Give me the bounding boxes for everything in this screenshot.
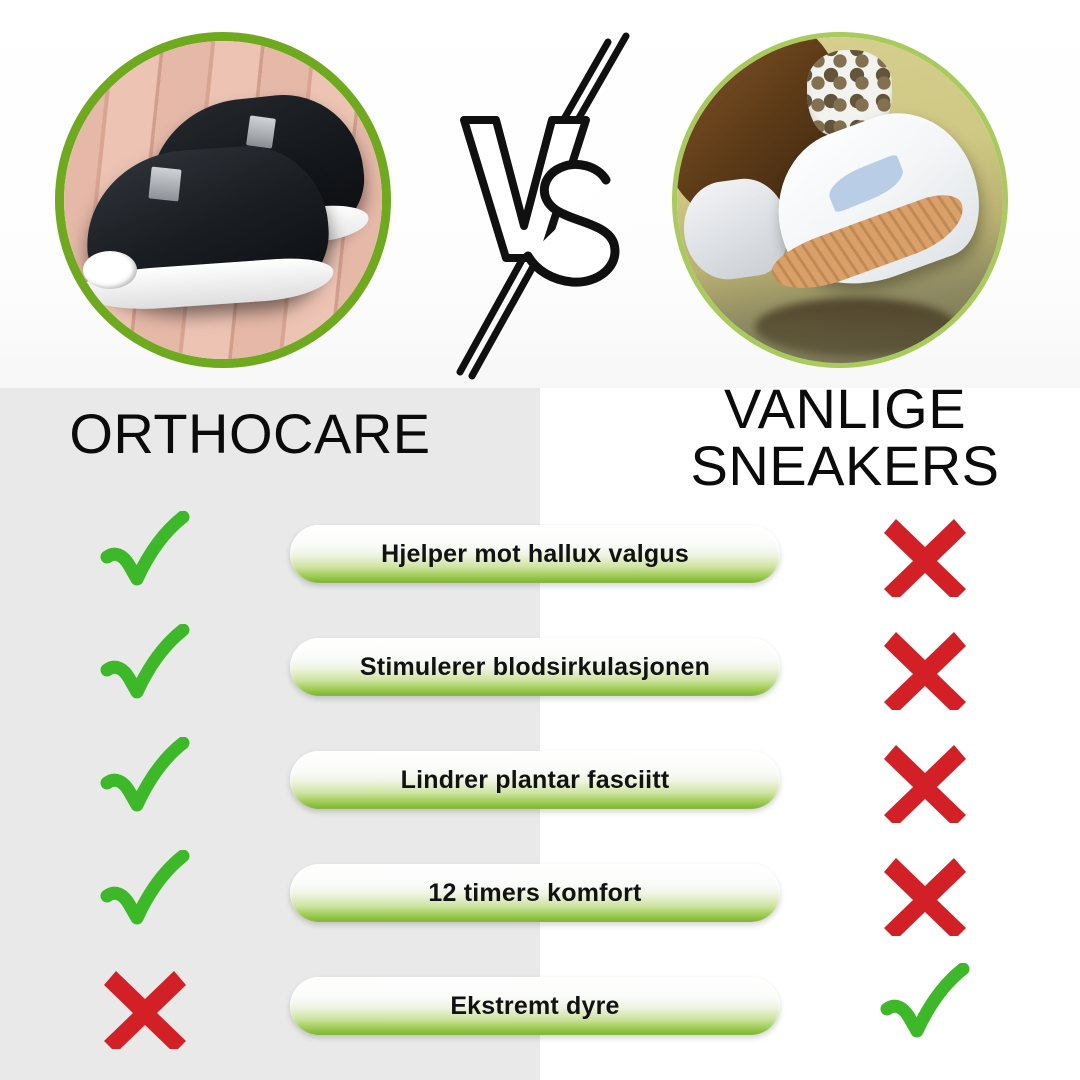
feature-pill[interactable]: 12 timers komfort xyxy=(290,864,780,922)
feature-pill[interactable]: Hjelper mot hallux valgus xyxy=(290,525,780,583)
row-mark-orthocare xyxy=(0,963,290,1049)
feature-pill-label: Lindrer plantar fasciitt xyxy=(401,766,670,795)
row-mark-vanlige-sneakers xyxy=(780,963,1070,1049)
check-icon xyxy=(97,624,193,710)
check-icon xyxy=(877,963,973,1049)
product-image-orthocare xyxy=(55,32,391,368)
comparison-row: 12 timers komfort xyxy=(0,847,1080,939)
shoe-air-unit xyxy=(83,251,137,289)
cross-icon xyxy=(100,963,190,1049)
row-mark-orthocare xyxy=(0,624,290,710)
row-mark-vanlige-sneakers xyxy=(780,511,1070,597)
row-mark-vanlige-sneakers xyxy=(780,737,1070,823)
comparison-row: Ekstremt dyre xyxy=(0,960,1080,1052)
row-mark-orthocare xyxy=(0,850,290,936)
cross-icon xyxy=(880,737,970,823)
comparison-row: Lindrer plantar fasciitt xyxy=(0,734,1080,826)
row-mark-orthocare xyxy=(0,511,290,597)
feature-pill[interactable]: Stimulerer blodsirkulasjonen xyxy=(290,638,780,696)
feature-pill[interactable]: Lindrer plantar fasciitt xyxy=(290,751,780,809)
comparison-row: Stimulerer blodsirkulasjonen xyxy=(0,621,1080,713)
vs-icon xyxy=(448,28,648,388)
row-mark-vanlige-sneakers xyxy=(780,624,1070,710)
shoe-heel-tab-back xyxy=(246,116,276,149)
cross-icon xyxy=(880,511,970,597)
page-title-left: ORTHOCARE xyxy=(40,405,460,462)
feature-pill-label: Hjelper mot hallux valgus xyxy=(381,540,689,569)
row-mark-orthocare xyxy=(0,737,290,823)
shoe-heel-tab-front xyxy=(148,167,181,202)
feature-pill[interactable]: Ekstremt dyre xyxy=(290,977,780,1035)
cross-icon xyxy=(880,624,970,710)
feature-pill-label: Ekstremt dyre xyxy=(450,992,619,1021)
cross-icon xyxy=(880,850,970,936)
page-title-right: VANLIGE SNEAKERS xyxy=(635,380,1055,494)
row-mark-vanlige-sneakers xyxy=(780,850,1070,936)
feature-pill-label: Stimulerer blodsirkulasjonen xyxy=(360,653,710,682)
product-image-vanlige-sneakers xyxy=(672,32,1008,368)
check-icon xyxy=(97,737,193,823)
orthocare-photo xyxy=(64,41,382,359)
vanlige-sneakers-photo xyxy=(677,37,1003,363)
comparison-infographic: ORTHOCARE VANLIGE SNEAKERS Hjelper mot h… xyxy=(0,0,1080,1080)
ground-shadow xyxy=(755,298,957,357)
check-icon xyxy=(97,850,193,936)
comparison-row: Hjelper mot hallux valgus xyxy=(0,508,1080,600)
check-icon xyxy=(97,511,193,597)
feature-pill-label: 12 timers komfort xyxy=(428,879,641,908)
